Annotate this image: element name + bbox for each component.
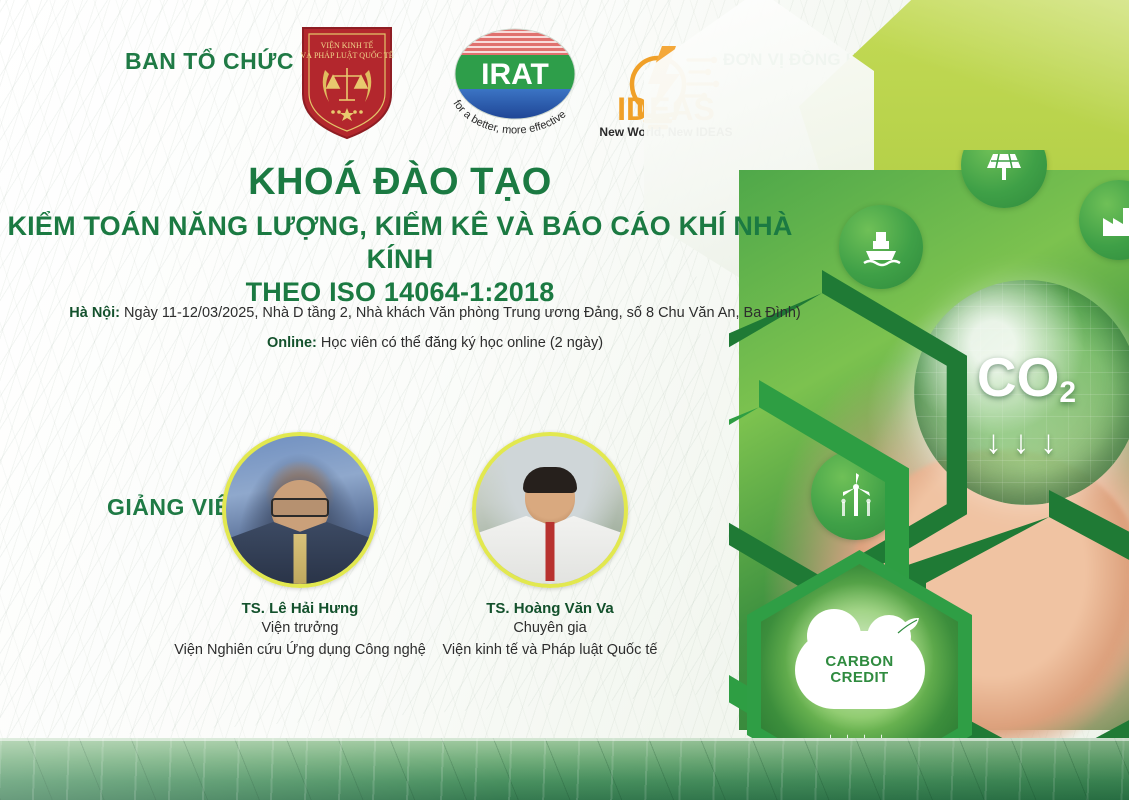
avatar-lanyard [546,522,555,581]
irat-logo: IRAT for a better, more effective [443,22,588,142]
carbon-credit-cloud: CARBON CREDIT [795,631,925,709]
details-block: Hà Nội: Ngày 11-12/03/2025, Nhà D tầng 2… [0,298,870,358]
course-title-line2: KIỂM TOÁN NĂNG LƯỢNG, KIỂM KÊ VÀ BÁO CÁO… [0,210,800,276]
leaf-icon [895,615,921,637]
ship-icon [839,205,923,289]
avatar-tie [294,534,307,584]
strip-hairline [0,738,1129,741]
bottom-building-strip [0,738,1129,800]
instructor-name-2: TS. Hoàng Văn Va [405,600,695,617]
detail-hanoi: Hà Nội: Ngày 11-12/03/2025, Nhà D tầng 2… [0,298,870,328]
detail-online-label: Online: [267,335,317,351]
poster-root: BAN TỔ CHỨC VIỆN KINH TẾ VÀ PHÁP LUẬT QU… [0,0,1129,800]
strip-color-veil [0,738,1129,800]
instructor-role-1: Viện trưởng [155,617,445,639]
course-title-line1: KHOÁ ĐÀO TẠO [0,160,800,204]
irat-name-text: IRAT [481,58,549,91]
carbon-credit-line2: CREDIT [825,670,893,686]
carbon-credit-line1: CARBON [825,654,893,670]
co2-globe: CO2 ↓↓↓ [914,280,1129,505]
instructor-avatar-2 [472,432,628,588]
avatar-hair [523,467,577,493]
co2-sub-text: 2 [1059,376,1076,409]
instructor-org-1: Viện Nghiên cứu Ứng dụng Công nghệ [155,639,445,661]
organizer-label: BAN TỔ CHỨC [125,48,294,75]
instructor-card-2: TS. Hoàng Văn Va Chuyên gia Viện kinh tế… [405,432,695,661]
instructor-role-2: Chuyên gia [405,617,695,639]
shield-line2-text: VÀ PHÁP LUẬT QUỐC TẾ [300,50,393,60]
shield-line1-text: VIỆN KINH TẾ [321,40,374,50]
co2-main-text: CO [977,346,1060,408]
carbon-credit-text: CARBON CREDIT [825,654,893,686]
instructor-avatar-1 [222,432,378,588]
detail-online: Online: Học viên có thể đăng ký học onli… [0,328,870,358]
shield-logo: VIỆN KINH TẾ VÀ PHÁP LUẬT QUỐC TẾ [299,24,395,142]
detail-hanoi-label: Hà Nội: [69,305,120,321]
instructor-org-2: Viện kinh tế và Pháp luật Quốc tế [405,639,695,661]
detail-online-text: Học viên có thể đăng ký học online (2 ng… [317,335,603,351]
title-block: KHOÁ ĐÀO TẠO KIỂM TOÁN NĂNG LƯỢNG, KIỂM … [0,160,800,309]
instructor-card-1: TS. Lê Hải Hưng Viện trưởng Viện Nghiên … [155,432,445,661]
instructor-name-1: TS. Lê Hải Hưng [155,600,445,617]
avatar-glasses [271,498,329,517]
co2-down-arrows: ↓↓↓ [914,425,1129,458]
detail-hanoi-text: Ngày 11-12/03/2025, Nhà D tầng 2, Nhà kh… [120,305,801,321]
